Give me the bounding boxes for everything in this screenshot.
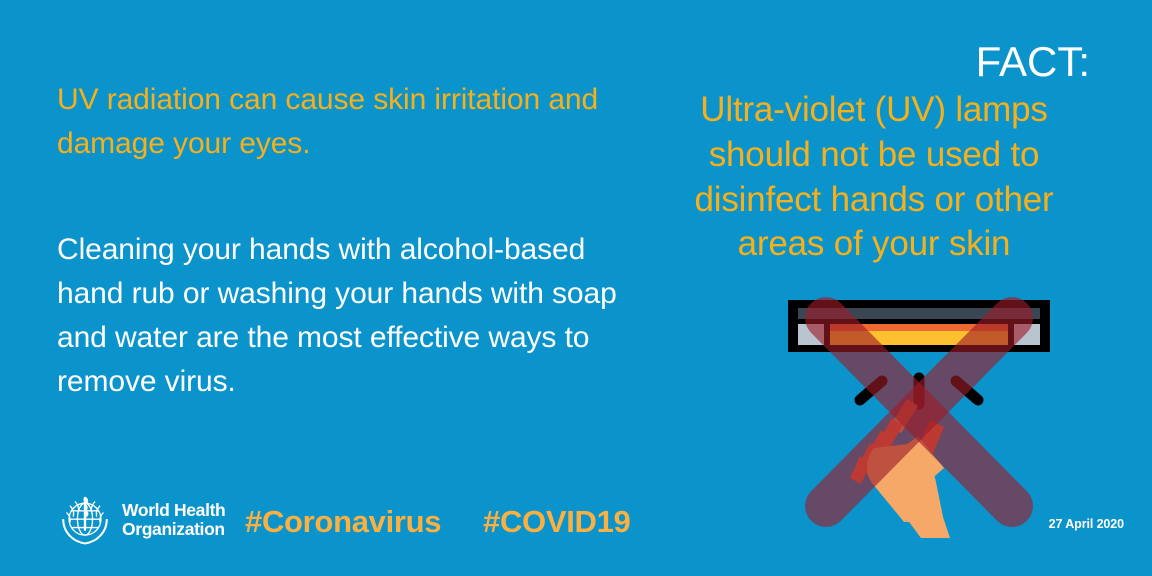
who-organization-name: World Health Organization [122,501,225,538]
publication-date: 27 April 2020 [1049,517,1124,531]
hashtag-covid19: #COVID19 [483,504,631,540]
fact-statement: Ultra-violet (UV) lamps should not be us… [654,88,1094,267]
poster-footer: World Health Organization #Coronavirus #… [0,486,1152,576]
left-text-column: UV radiation can cause skin irritation a… [57,78,657,404]
right-fact-column: FACT: Ultra-violet (UV) lamps should not… [654,40,1094,267]
who-logo: World Health Organization [58,494,225,546]
who-fact-poster: UV radiation can cause skin irritation a… [0,0,1152,576]
uv-radiation-headline: UV radiation can cause skin irritation a… [57,78,657,165]
hand-hygiene-body-text: Cleaning your hands with alcohol-based h… [57,228,657,404]
hashtag-coronavirus: #Coronavirus [245,504,441,540]
fact-label: FACT: [654,40,1090,84]
who-emblem-icon [58,494,112,546]
